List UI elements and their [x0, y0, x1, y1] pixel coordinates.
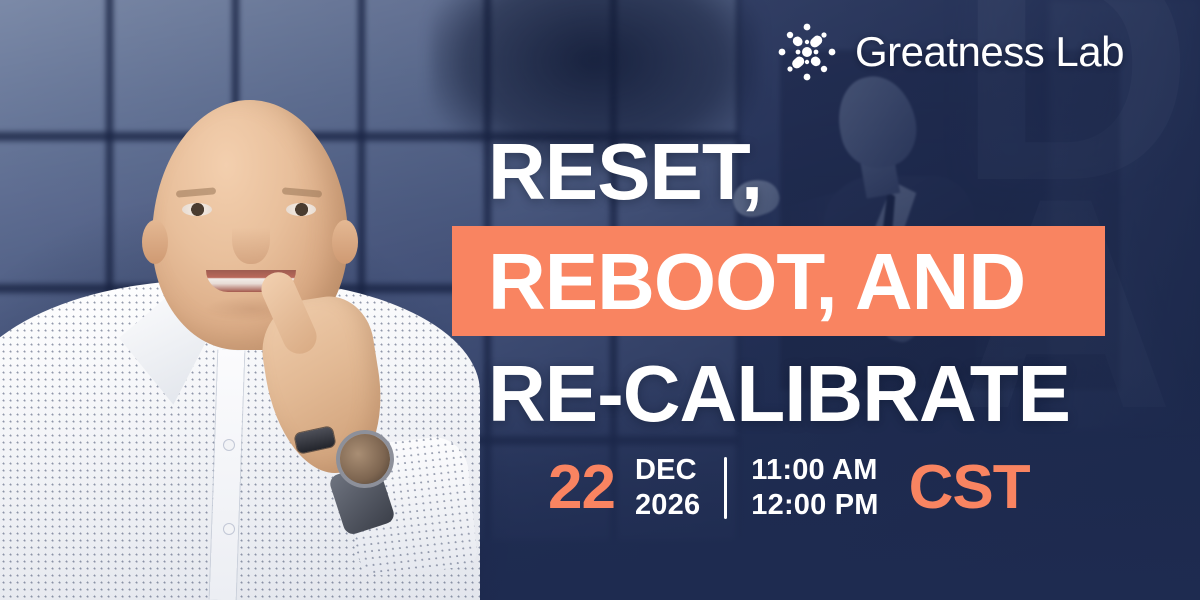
- portrait-shirt-button: [224, 440, 234, 450]
- event-month: DEC: [635, 453, 700, 488]
- dot-cluster-logo-icon: [775, 20, 839, 84]
- portrait-eye-left: [182, 203, 212, 216]
- portrait-shirt-button: [224, 524, 234, 534]
- event-month-year: DEC 2026: [635, 453, 700, 524]
- portrait-nose: [232, 212, 270, 264]
- webinar-promo-banner: D A: [0, 0, 1200, 600]
- headline-highlight-band: REBOOT, AND: [452, 226, 1105, 336]
- event-day: 22: [548, 457, 615, 519]
- brand-logo[interactable]: Greatness Lab: [775, 20, 1124, 84]
- portrait-ear-left: [142, 220, 168, 264]
- event-year: 2026: [635, 488, 700, 523]
- event-time-start: 11:00 AM: [751, 453, 878, 488]
- event-time-end: 12:00 PM: [751, 488, 878, 523]
- headline-line-1: RESET,: [452, 132, 1112, 212]
- event-details-row: 22 DEC 2026 11:00 AM 12:00 PM CST: [548, 452, 1030, 524]
- headline-line-3: RE-CALIBRATE: [452, 354, 1112, 434]
- portrait-ear-right: [332, 220, 358, 264]
- event-time-range: 11:00 AM 12:00 PM: [751, 453, 878, 524]
- host-portrait: [0, 0, 520, 600]
- brand-name: Greatness Lab: [855, 31, 1124, 73]
- headline-block: RESET, REBOOT, AND RE-CALIBRATE: [452, 132, 1112, 434]
- portrait-eye-right: [286, 203, 316, 216]
- vertical-divider-icon: [724, 457, 727, 519]
- event-timezone: CST: [909, 457, 1030, 519]
- headline-line-2: REBOOT, AND: [488, 237, 1025, 326]
